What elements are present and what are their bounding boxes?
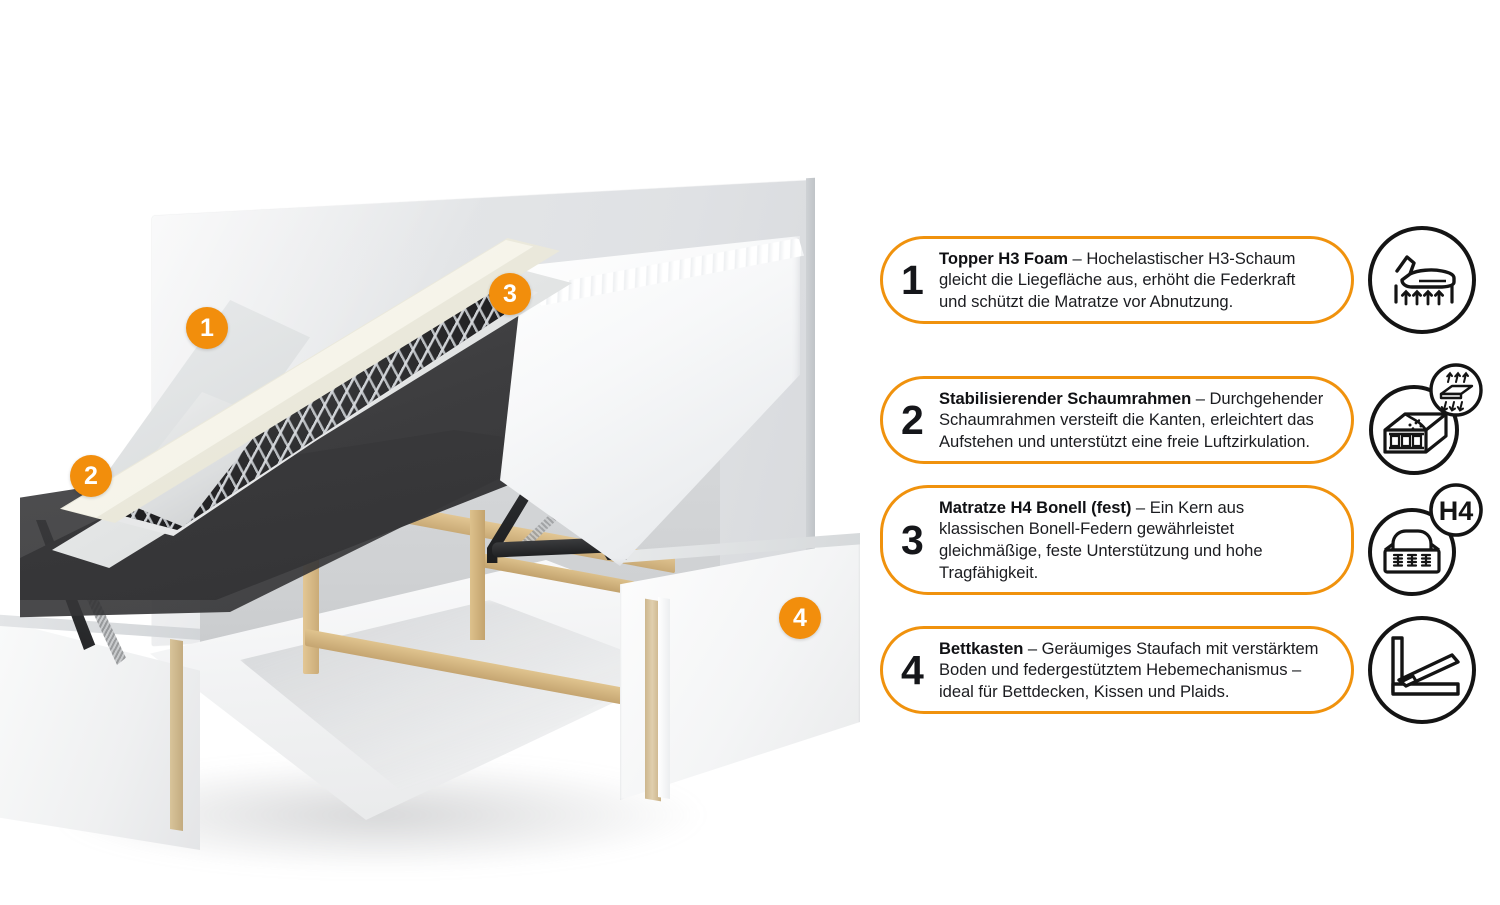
icon-slot-topper xyxy=(1360,218,1484,342)
feature-row-topper: 1 Topper H3 Foam – Hochelastischer H3-Sc… xyxy=(880,218,1500,342)
callout-title: Stabilisierender Schaumrahmen xyxy=(939,389,1191,408)
icon-slot-foam-frame xyxy=(1360,358,1484,482)
feature-row-storage-box: 4 Bettkasten – Geräumiges Staufach mit v… xyxy=(880,608,1500,732)
callout-mattress: 3 Matratze H4 Bonell (fest) – Ein Kern a… xyxy=(880,485,1354,595)
callout-topper: 1 Topper H3 Foam – Hochelastischer H3-Sc… xyxy=(880,236,1354,325)
icon-slot-storage-box xyxy=(1360,608,1484,732)
infographic-page: 1 2 3 4 1 Topper H3 Foam – Hochelastisch… xyxy=(0,0,1500,905)
callout-dash: – xyxy=(1131,498,1149,517)
callout-title: Bettkasten xyxy=(939,639,1023,658)
callout-dash: – xyxy=(1191,389,1209,408)
callout-number: 4 xyxy=(901,650,939,691)
box-edge-banding-right-white xyxy=(658,597,670,799)
mattress-foam-frame-cutaway-icon xyxy=(1360,358,1484,482)
badge-foam-frame: 2 xyxy=(70,455,112,497)
callout-dash: – xyxy=(1023,639,1041,658)
feature-row-foam-frame: 2 Stabilisierender Schaumrahmen – Durchg… xyxy=(880,358,1500,482)
product-render-stage: 1 2 3 4 xyxy=(0,0,870,905)
callout-foam-frame: 2 Stabilisierender Schaumrahmen – Durchg… xyxy=(880,376,1354,465)
icon-slot-mattress: H4 xyxy=(1360,478,1484,602)
feature-list: 1 Topper H3 Foam – Hochelastischer H3-Sc… xyxy=(880,0,1500,905)
callout-number: 3 xyxy=(901,520,939,561)
callout-text: Matratze H4 Bonell (fest) – Ein Kern aus… xyxy=(939,497,1325,583)
badge-topper: 1 xyxy=(186,307,228,349)
wood-frame-cross-post xyxy=(470,510,485,640)
badge-mattress: 3 xyxy=(489,273,531,315)
callout-title: Topper H3 Foam xyxy=(939,249,1068,268)
callout-number: 2 xyxy=(901,400,939,441)
person-on-topper-with-up-arrows-icon xyxy=(1366,224,1478,336)
callout-dash: – xyxy=(1068,249,1086,268)
mattress-bonell-springs-icon: H4 xyxy=(1360,478,1484,602)
box-edge-banding-left xyxy=(170,639,183,831)
callout-text: Topper H3 Foam – Hochelastischer H3-Scha… xyxy=(939,248,1325,313)
callout-number: 1 xyxy=(901,260,939,301)
product-image: 1 2 3 4 xyxy=(0,0,870,905)
bed-lift-up-storage-icon xyxy=(1366,614,1478,726)
callout-text: Bettkasten – Geräumiges Staufach mit ver… xyxy=(939,638,1325,703)
feature-row-mattress: 3 Matratze H4 Bonell (fest) – Ein Kern a… xyxy=(880,478,1500,602)
callout-text: Stabilisierender Schaumrahmen – Durchgeh… xyxy=(939,388,1325,453)
hardness-grade-label: H4 xyxy=(1439,496,1474,526)
callout-title: Matratze H4 Bonell (fest) xyxy=(939,498,1131,517)
badge-storage-box: 4 xyxy=(779,597,821,639)
callout-storage-box: 4 Bettkasten – Geräumiges Staufach mit v… xyxy=(880,626,1354,715)
